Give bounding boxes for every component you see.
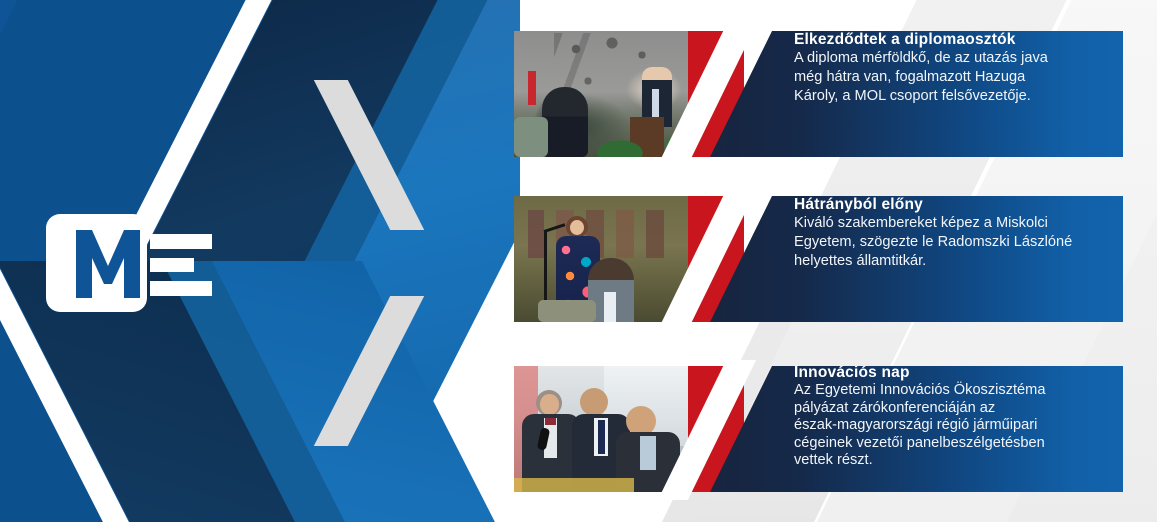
news-slide: Elkezdődtek a diplomaosztók A diploma mé… — [0, 0, 1157, 522]
audience-head — [542, 87, 588, 157]
photo-innovacios-nap — [514, 366, 688, 492]
table — [514, 478, 634, 492]
miskolci-egyetem-logo — [46, 214, 216, 312]
card-body: Kiváló szakembereket képez a Miskolci Eg… — [794, 214, 1113, 271]
card-body: A diploma mérföldkő, de az utazás java m… — [794, 49, 1113, 106]
card-title: Hátrányból előny — [794, 196, 1113, 214]
panelist-head — [580, 388, 608, 416]
photo-hatranybol-elony — [514, 196, 688, 322]
card-title: Elkezdődtek a diplomaosztók — [794, 31, 1113, 49]
photo-diplomaoszto — [514, 31, 688, 157]
card-text-panel: Innovációs nap Az Egyetemi Innovációs Ök… — [710, 366, 1123, 492]
card-text-panel: Elkezdődtek a diplomaosztók A diploma mé… — [710, 31, 1123, 157]
logo-e-glyph — [150, 234, 212, 296]
plant — [584, 123, 656, 157]
bow-tie — [545, 418, 556, 425]
red-banner — [528, 71, 536, 105]
card-text-panel: Hátrányból előny Kiváló szakembereket ké… — [710, 196, 1123, 322]
card-body: Az Egyetemi Innovációs Ökoszisztéma pály… — [794, 382, 1113, 470]
necktie — [598, 420, 605, 454]
chair — [538, 300, 596, 322]
panelist-head — [540, 394, 559, 415]
card-title: Innovációs nap — [794, 366, 1113, 382]
